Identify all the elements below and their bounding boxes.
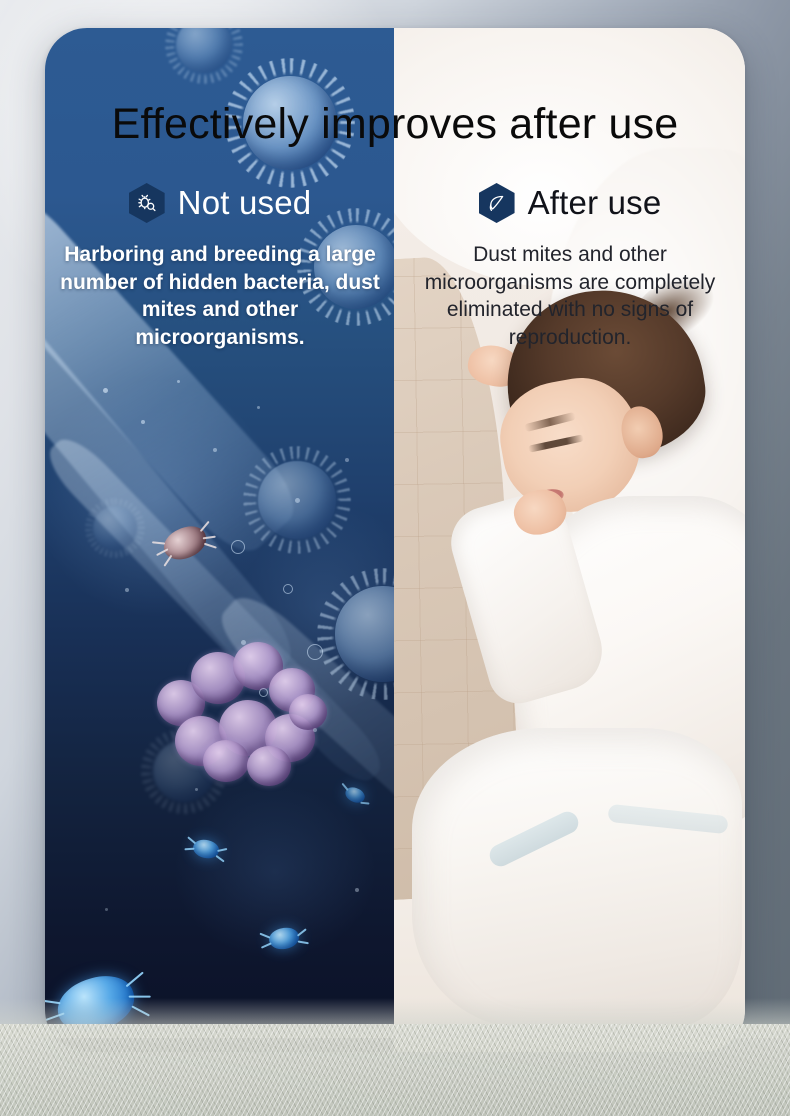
fabric-texture-surface [0, 1024, 790, 1116]
virus-particle-icon [85, 498, 145, 558]
particle-speck [295, 498, 300, 503]
particle-speck [125, 588, 129, 592]
particle-speck [313, 728, 317, 732]
comparison-card: Effectively improves after use [45, 28, 745, 1052]
bubble-ring [231, 540, 245, 554]
baby-legs [412, 728, 742, 1028]
bubble-ring [259, 688, 268, 697]
panel-after-use [394, 28, 745, 1052]
dust-mite-icon [268, 926, 301, 951]
particle-speck [345, 458, 349, 462]
particle-speck [105, 908, 108, 911]
virus-particle-icon [225, 58, 355, 188]
bubble-ring [307, 644, 323, 660]
particle-speck [177, 380, 180, 383]
particle-speck [257, 406, 260, 409]
particle-speck [195, 788, 198, 791]
particle-speck [241, 640, 246, 645]
particle-speck [141, 420, 145, 424]
particle-speck [355, 888, 359, 892]
particle-speck [213, 448, 217, 452]
particle-speck [103, 388, 108, 393]
promo-page: Effectively improves after use [0, 0, 790, 1116]
bubble-ring [283, 584, 293, 594]
panel-not-used [45, 28, 394, 1052]
